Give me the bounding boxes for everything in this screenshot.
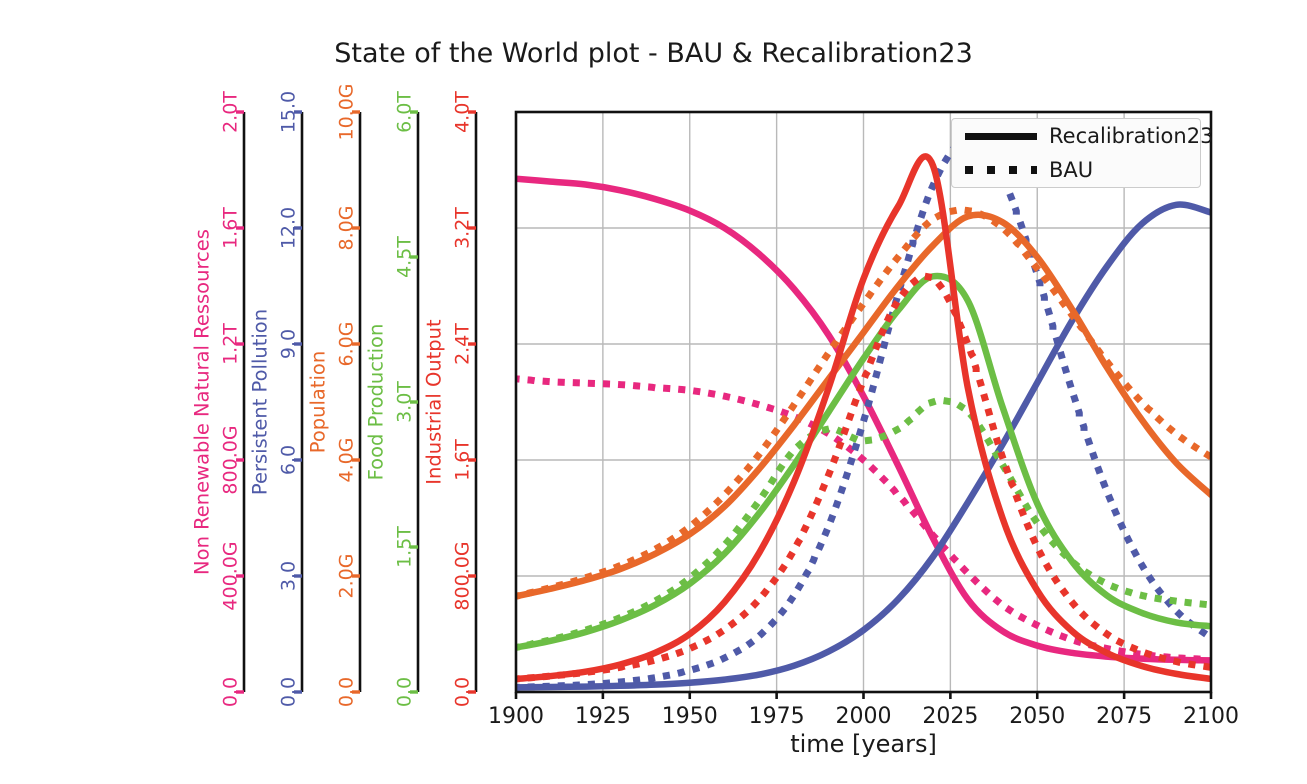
axis-tick-label: 10.0G [335, 83, 357, 140]
legend-label-bau: BAU [1049, 158, 1093, 182]
x-tick-label: 1950 [662, 704, 718, 729]
axis-tick-label: 12.0 [277, 207, 299, 249]
axis-tick-label: 400.0G [219, 541, 241, 610]
x-tick-label: 2000 [836, 704, 892, 729]
x-tick-label: 2025 [922, 704, 978, 729]
legend-label-recalibration23: Recalibration23 [1049, 124, 1213, 148]
axis-tick-label: 2.4T [451, 323, 473, 365]
axis-tick-label: 2.0G [335, 554, 357, 599]
x-axis-label: time [years] [516, 730, 1211, 758]
legend-item-bau[interactable]: BAU [952, 153, 1200, 187]
legend-solid-swatch-icon [965, 129, 1037, 143]
axis-tick-label: 4.5T [393, 236, 415, 278]
axis-tick-label: 0.0 [219, 677, 241, 707]
x-tick-label: 1925 [575, 704, 631, 729]
axis-tick-label: 9.0 [277, 329, 299, 359]
axis-tick-label: 1.5T [393, 526, 415, 568]
axis-title: Non Renewable Natural Ressources [190, 229, 213, 575]
axis-tick-label: 4.0T [451, 91, 473, 133]
axis-tick-label: 0.0 [335, 677, 357, 707]
x-tick-label: 1975 [749, 704, 805, 729]
x-tick-label: 2100 [1183, 704, 1239, 729]
axis-tick-label: 8.0G [335, 206, 357, 251]
x-tick-label: 1900 [488, 704, 544, 729]
x-tick-label: 2050 [1009, 704, 1065, 729]
axis-title: Industrial Output [422, 319, 445, 485]
x-tick-label: 2075 [1096, 704, 1152, 729]
axis-tick-label: 2.0T [219, 91, 241, 133]
axis-tick-label: 0.0 [277, 677, 299, 707]
axis-title: Food Production [364, 324, 387, 481]
axis-tick-label: 1.6T [219, 207, 241, 249]
legend-item-recalibration23[interactable]: Recalibration23 [952, 119, 1200, 153]
axis-title: Persistent Pollution [248, 309, 271, 495]
axis-title: Population [306, 351, 329, 453]
axis-tick-label: 0.0 [451, 677, 473, 707]
axis-tick-label: 3.2T [451, 207, 473, 249]
axis-tick-label: 1.6T [451, 439, 473, 481]
chart-legend: Recalibration23 BAU [951, 118, 1201, 188]
axis-tick-label: 1.2T [219, 323, 241, 365]
axis-tick-label: 800.0G [219, 425, 241, 494]
chart-root: State of the World plot - BAU & Recalibr… [0, 0, 1307, 784]
axis-tick-label: 3.0T [393, 381, 415, 423]
axis-tick-label: 800.0G [451, 541, 473, 610]
axis-tick-label: 3.0 [277, 561, 299, 591]
axis-tick-label: 6.0G [335, 322, 357, 367]
axis-tick-label: 4.0G [335, 438, 357, 483]
axis-tick-label: 15.0 [277, 91, 299, 133]
axis-tick-label: 0.0 [393, 677, 415, 707]
axis-tick-label: 6.0T [393, 91, 415, 133]
axis-tick-label: 6.0 [277, 445, 299, 475]
legend-dotted-swatch-icon [965, 163, 1037, 177]
